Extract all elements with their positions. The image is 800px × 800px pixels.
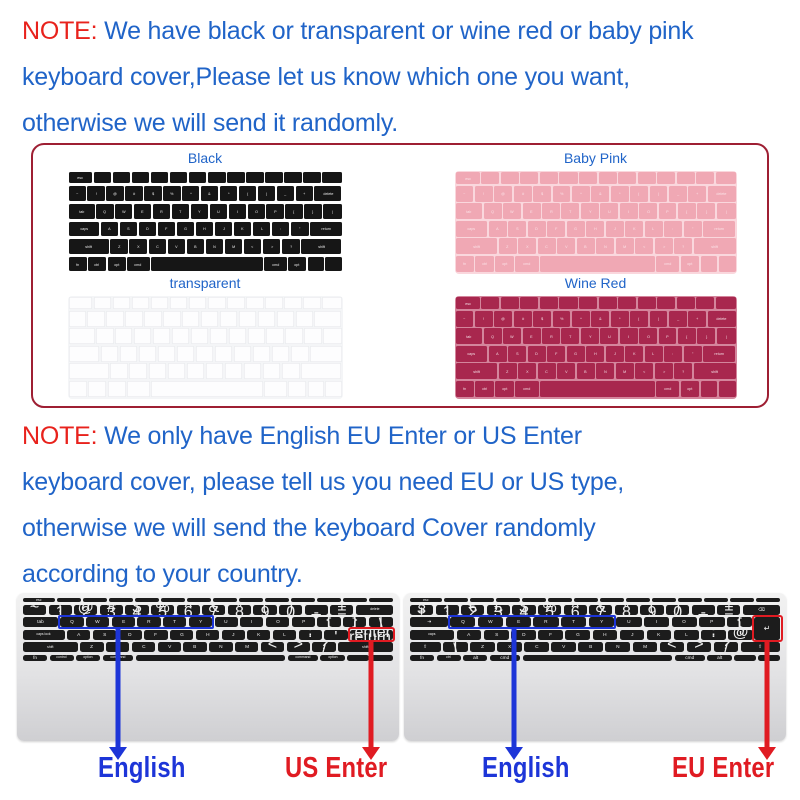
keyboard-key: M [225, 239, 243, 254]
keyboard-key: L [645, 221, 663, 237]
keyboard-row: capsASDFGHJKL:"return [69, 222, 342, 237]
keyboard-cover-baby-pink: esc~!@#$%^&*()_+deletetabQWERTYUIOP{}|ca… [455, 171, 737, 274]
keyboard-key: tab [69, 204, 95, 219]
keyboard-key [285, 328, 302, 344]
keyboard-key [168, 363, 186, 379]
keyboard-key: ( [630, 186, 648, 202]
keyboard-key: %5 [151, 605, 174, 615]
keyboard-key: J [620, 630, 645, 640]
keyboard-key: H [586, 346, 604, 362]
keyboard-key [559, 297, 577, 309]
keyboard-key [284, 297, 302, 309]
keyboard-key: F [547, 346, 565, 362]
keyboard-key: C [132, 642, 155, 652]
keyboard-key [177, 346, 195, 362]
keyboard-key: I [620, 203, 638, 219]
keyboard-key [314, 311, 341, 327]
keyboard-key: * [611, 186, 629, 202]
keyboard-key: K [647, 630, 672, 640]
keyboard-key [501, 297, 519, 309]
keyboard-row: fncontroloptioncommandcommandoption [23, 655, 393, 661]
keyboard-key: Y [581, 328, 599, 344]
keyboard-key: > [263, 239, 281, 254]
keyboard-key [284, 172, 302, 183]
keyboard-key: ctrl [475, 256, 493, 272]
keyboard-key: ⌫ [743, 605, 780, 615]
keyboard-key: _ [669, 311, 687, 327]
keyboard-key: ^6 [564, 605, 587, 615]
keyboard-key: control [50, 655, 74, 661]
keyboard-row: shiftZXCVBNM<>?shift [456, 363, 736, 379]
keyboard-key: P [659, 203, 677, 219]
keyboard-key: |\ [369, 617, 393, 627]
keyboard-key: C [149, 239, 167, 254]
keyboard-key: N [209, 642, 232, 652]
keyboard-key: ( [630, 311, 648, 327]
keyboard-key [258, 311, 275, 327]
keyboard-key: D [528, 221, 546, 237]
keyboard-row: ~!@#$%^&*()_+delete [456, 186, 736, 202]
keyboard-key [277, 311, 294, 327]
keyboard-key: ~ [456, 186, 474, 202]
keyboard-key: shift [694, 363, 736, 379]
keyboard-key [239, 311, 256, 327]
keyboard-row: ~!@#$%^&*()_+delete [69, 186, 342, 201]
keyboard-key [704, 598, 728, 602]
keyboard-key [246, 297, 264, 309]
keyboard-key: B [577, 238, 595, 254]
keyboard-key [496, 598, 520, 602]
keyboard-key: : [664, 221, 682, 237]
keyboard-key: opt [495, 256, 513, 272]
keyboard-key: : [664, 346, 682, 362]
keyboard-key [657, 297, 675, 309]
keyboard-key: U [215, 617, 238, 627]
keyboard-key [158, 346, 176, 362]
keyboard-key [282, 363, 300, 379]
keyboard-us-keys: esc~`!1@2#3$4%5^6&7*8(9)0_-+=deletetabQW… [23, 598, 393, 661]
keyboard-key [696, 297, 714, 309]
keyboard-key: cmd [515, 381, 538, 397]
keyboard-key: I [644, 617, 669, 627]
keyboard-key: |\ [443, 642, 468, 652]
keyboard-key [719, 256, 736, 272]
keyboard-key: P [659, 328, 677, 344]
keyboard-key: cmd [127, 257, 150, 272]
keyboard-key [263, 363, 281, 379]
keyboard-key: O [639, 203, 657, 219]
keyboard-key: ?/ [714, 642, 739, 652]
keyboard-key: O [639, 328, 657, 344]
keyboard-key [125, 311, 142, 327]
keyboard-key: " [684, 221, 702, 237]
note2-line-1: NOTE: We only have English EU Enter or U… [22, 413, 778, 459]
keyboard-key: >. [687, 642, 712, 652]
keyboard-key [322, 297, 341, 309]
keyboard-row [69, 363, 342, 379]
keyboard-key [540, 256, 655, 272]
keyboard-key: H [586, 221, 604, 237]
keyboard-key [201, 311, 218, 327]
keyboard-key: E [523, 203, 541, 219]
keyboard-key: %5 [538, 605, 561, 615]
keyboard-key: €2 [461, 605, 484, 615]
keyboard-key: esc [456, 297, 480, 309]
keyboard-key: cmd [675, 655, 705, 661]
note2-keyword: NOTE: [22, 422, 97, 450]
caption-eu-english: English [482, 752, 570, 784]
keyboard-key: P [699, 617, 724, 627]
keyboard-key: T [561, 617, 586, 627]
keyboard-key: : [272, 222, 290, 237]
keyboard-key [244, 363, 262, 379]
keyboard-key [96, 328, 113, 344]
keyboard-key: delete [708, 186, 736, 202]
keyboard-row: ~`!1@2#3$4%5^6&7*8(9)0_-+=delete [23, 605, 393, 615]
keyboard-key [94, 172, 112, 183]
keyboard-key: ctrl [437, 655, 461, 661]
keyboard-key: + [688, 186, 706, 202]
keyboard-key: M [616, 363, 634, 379]
keyboard-key [470, 598, 494, 602]
keyboard-key [88, 381, 106, 397]
keyboard-key [151, 257, 263, 272]
keyboard-key: tab [23, 617, 58, 627]
keyboard-key: V [168, 239, 186, 254]
keyboard-key: shift [23, 642, 78, 652]
keyboard-key: V [557, 363, 575, 379]
keyboard-key [170, 172, 188, 183]
keyboard-key [579, 172, 597, 184]
keyboard-key: I [620, 328, 638, 344]
keyboard-key [127, 381, 150, 397]
keyboard-key: return [703, 221, 735, 237]
keyboard-key: } [697, 328, 715, 344]
keyboard-row: fnctrloptcmdcmdopt [69, 257, 342, 272]
keyboard-key: P [266, 204, 283, 219]
keyboard-key [191, 328, 208, 344]
swatch-wine-red: Wine Red esc~!@#$%^&*()_+deletetabQWERTY… [433, 275, 758, 399]
keyboard-key [696, 172, 714, 184]
keyboard-key: + [688, 311, 706, 327]
caption-us-english: English [98, 752, 186, 784]
keyboard-row: fnctrlaltcmdcmdalt [410, 655, 780, 661]
keyboard-key: | [717, 328, 736, 344]
keyboard-key: L [645, 346, 663, 362]
keyboard-key [574, 598, 598, 602]
keyboard-key [657, 172, 675, 184]
keyboard-key: G [170, 630, 193, 640]
keyboard-key: A [457, 630, 482, 640]
keyboard-key: S [484, 630, 509, 640]
keyboard-key: X [518, 363, 536, 379]
keyboard-key: < [244, 239, 262, 254]
keyboard-key: C [538, 238, 556, 254]
keyboard-key [600, 598, 624, 602]
keyboard-key: F [144, 630, 167, 640]
note-block-layout: NOTE: We only have English EU Enter or U… [0, 413, 800, 597]
keyboard-key: ? [282, 239, 300, 254]
keyboard-key [677, 172, 695, 184]
note1-keyword: NOTE: [22, 17, 97, 45]
keyboard-key: K [234, 222, 252, 237]
keyboard-key: E [134, 204, 151, 219]
keyboard-key: tab [456, 328, 483, 344]
keyboard-key [246, 172, 264, 183]
keyboard-key: M [616, 238, 634, 254]
keyboard-key: X [497, 642, 522, 652]
keyboard-key: enterreturn [350, 630, 393, 640]
keyboard-key: "' [324, 630, 347, 640]
keyboard-key [501, 172, 519, 184]
keyboard-row: shiftZXCVBNM<>?shift [456, 238, 736, 254]
swatch-black-label: Black [45, 150, 365, 167]
keyboard-key: G [567, 346, 585, 362]
keyboard-key: !1 [436, 605, 459, 615]
keyboard-key: ^ [182, 186, 199, 201]
keyboard-key: } [697, 203, 715, 219]
keyboard-key: ) [258, 186, 275, 201]
keyboard-key [161, 598, 185, 602]
keyboard-key [151, 172, 169, 183]
keyboard-key: ! [475, 186, 493, 202]
keyboard-key: shift [69, 239, 109, 254]
keyboard-key: )0 [279, 605, 302, 615]
keyboard-key [347, 655, 369, 661]
keyboard-key: command [103, 655, 133, 661]
keyboard-key [371, 655, 393, 661]
keyboard-key: C [524, 642, 549, 652]
keyboard-key: A [101, 222, 119, 237]
keyboard-key [734, 655, 756, 661]
keyboard-key: @' [728, 630, 753, 640]
keyboard-key: ! [87, 186, 104, 201]
keyboard-key [288, 381, 306, 397]
keyboard-key: ~` [23, 605, 46, 615]
keyboard-key [196, 346, 214, 362]
keyboard-key [134, 328, 151, 344]
keyboard-key: $4 [512, 605, 535, 615]
keyboard-key: #3 [100, 605, 123, 615]
keyboard-key: ! [475, 311, 493, 327]
keyboard-key [172, 328, 189, 344]
keyboard-key: return [703, 346, 735, 362]
keyboard-key: @ [494, 186, 512, 202]
keyboard-us-layout: esc~`!1@2#3$4%5^6&7*8(9)0_-+=deletetabQW… [17, 593, 399, 741]
keyboard-key: Y [581, 203, 599, 219]
keyboard-key: > [655, 238, 673, 254]
keyboard-key: Z [499, 363, 517, 379]
keyboard-key [265, 598, 289, 602]
keyboard-key: Q [450, 617, 475, 627]
keyboard-key: J [222, 630, 245, 640]
keyboard-key [301, 363, 341, 379]
swatch-baby-pink: Baby Pink esc~!@#$%^&*()_+deletetabQWERT… [433, 150, 758, 274]
keyboard-key: N [596, 238, 614, 254]
keyboard-key [264, 381, 287, 397]
keyboard-cover-black: esc~!@#$%^&*()_+deletetabQWERTYUIOP{}|ca… [68, 171, 343, 274]
keyboard-row: tabQWERTYUIOP{[}]|\ [23, 617, 393, 627]
keyboard-key: N [605, 642, 630, 652]
keyboard-key: ~ [456, 311, 474, 327]
keyboard-key: W [86, 617, 109, 627]
keyboard-key: command [288, 655, 318, 661]
keyboard-key: { [678, 203, 696, 219]
keyboard-key [206, 363, 224, 379]
color-options-panel: Black esc~!@#$%^&*()_+deletetabQWERTYUIO… [31, 143, 769, 408]
keyboard-key: delete [314, 186, 341, 201]
keyboard-key: S [93, 630, 116, 640]
caption-eu-enter: EU Enter [672, 752, 774, 784]
keyboard-key: _ [277, 186, 294, 201]
keyboard-key [758, 655, 780, 661]
keyboard-key [343, 598, 367, 602]
keyboard-key [325, 381, 341, 397]
keyboard-key: B [183, 642, 206, 652]
keyboard-key [652, 598, 676, 602]
keyboard-key: K [625, 221, 643, 237]
keyboard-key: X [518, 238, 536, 254]
note-block-colors: NOTE: We have black or transparent or wi… [0, 8, 800, 146]
keyboard-key: W [115, 204, 132, 219]
keyboard-key [317, 598, 341, 602]
keyboard-key: Q [96, 204, 113, 219]
keyboard-key: shift [301, 239, 341, 254]
keyboard-key: A [489, 346, 507, 362]
keyboard-key: alt [463, 655, 487, 661]
keyboard-key [638, 172, 656, 184]
keyboard-key: P [292, 617, 315, 627]
keyboard-key: shift [456, 238, 498, 254]
keyboard-key: B [578, 642, 603, 652]
keyboard-key: R [533, 617, 558, 627]
keyboard-key: R [542, 203, 560, 219]
keyboard-key [129, 363, 147, 379]
keyboard-key [540, 172, 558, 184]
keyboard-key [135, 598, 159, 602]
keyboard-key [756, 598, 780, 602]
keyboard-key: {[ [727, 617, 752, 627]
keyboard-row: capsASDFGHJKL:"return [456, 346, 736, 362]
keyboard-key [481, 172, 499, 184]
keyboard-row: tabQWERTYUIOP{}| [456, 328, 736, 344]
keyboard-key: # [514, 311, 532, 327]
keyboard-key [272, 346, 290, 362]
keyboard-row: ⇧|\ZXCVBNM<,>.?/⇧ [410, 642, 780, 652]
keyboard-key: < [635, 238, 653, 254]
keyboard-key [109, 598, 133, 602]
keyboard-key [144, 311, 161, 327]
keyboard-key: }] [343, 617, 366, 627]
keyboard-key [618, 172, 636, 184]
keyboard-key: T [561, 328, 579, 344]
keyboard-key: Z [499, 238, 517, 254]
keyboard-key [113, 297, 131, 309]
keyboard-key [540, 297, 558, 309]
keyboard-key: esc [410, 598, 442, 602]
keyboard-row: caps lockASDFGHJKL:;"'enterreturn [23, 630, 393, 640]
keyboard-key: M [235, 642, 258, 652]
keyboard-key [291, 598, 315, 602]
keyboard-key: )0 [666, 605, 689, 615]
keyboard-key [481, 297, 499, 309]
note1-line-1: NOTE: We have black or transparent or wi… [22, 8, 778, 54]
keyboard-key [599, 297, 617, 309]
keyboard-key [132, 297, 150, 309]
keyboard-key: tab [456, 203, 483, 219]
keyboard-key: W [503, 328, 521, 344]
keyboard-row: capsASDFGHJKL:"return [456, 221, 736, 237]
keyboard-key: D [139, 222, 157, 237]
keyboard-key [730, 598, 754, 602]
keyboard-key [187, 363, 205, 379]
keyboard-key: R [542, 328, 560, 344]
keyboard-key: L [253, 222, 271, 237]
keyboard-key [139, 346, 157, 362]
keyboard-key: X [106, 642, 129, 652]
keyboard-key [113, 172, 131, 183]
keyboard-key [110, 363, 128, 379]
keyboard-key: ~ [69, 186, 86, 201]
keyboard-key: C [538, 363, 556, 379]
keyboard-key: T [163, 617, 186, 627]
keyboard-key [677, 297, 695, 309]
keyboard-key: &7 [589, 605, 612, 615]
keyboard-key: :; [701, 630, 726, 640]
eu-enter-key: ↵ [754, 617, 780, 640]
keyboard-key: &7 [202, 605, 225, 615]
keyboard-key: G [565, 630, 590, 640]
keyboard-row [69, 311, 342, 327]
keyboard-key: Z [470, 642, 495, 652]
keyboard-key: £3 [487, 605, 510, 615]
keyboard-key: A [489, 221, 507, 237]
keyboard-key: Q [60, 617, 83, 627]
keyboard-key: *8 [615, 605, 638, 615]
keyboard-key: # [125, 186, 142, 201]
keyboard-key: opt [288, 257, 306, 272]
keyboard-key [291, 346, 309, 362]
keyboard-key [520, 172, 538, 184]
keyboard-key: @2 [74, 605, 97, 615]
keyboard-key: !1 [49, 605, 72, 615]
keyboard-key [599, 172, 617, 184]
keyboard-key: delete [708, 311, 736, 327]
keyboard-key: & [591, 186, 609, 202]
keyboard-key: F [547, 221, 565, 237]
keyboard-key [115, 328, 132, 344]
keyboard-key: > [655, 363, 673, 379]
keyboard-key: U [210, 204, 227, 219]
keyboard-key: caps [69, 222, 100, 237]
keyboard-key [540, 381, 655, 397]
keyboard-key: += [717, 605, 740, 615]
keyboard-key: ?/ [312, 642, 335, 652]
keyboard-key: cmd [656, 256, 679, 272]
keyboard-key: caps [410, 630, 454, 640]
note2-line-4: according to your country. [22, 551, 778, 597]
keyboard-key [69, 346, 100, 362]
keyboard-cover-wine-red: esc~!@#$%^&*()_+deletetabQWERTYUIOP{}|ca… [455, 296, 737, 399]
keyboard-key [369, 598, 393, 602]
note2-line-2: keyboard cover, please tell us you need … [22, 459, 778, 505]
keyboard-row [69, 328, 342, 344]
keyboard-key: A [67, 630, 90, 640]
keyboard-key: S [508, 346, 526, 362]
keyboard-key: D [528, 346, 546, 362]
keyboard-row: esc [23, 598, 393, 602]
keyboard-key: { [678, 328, 696, 344]
